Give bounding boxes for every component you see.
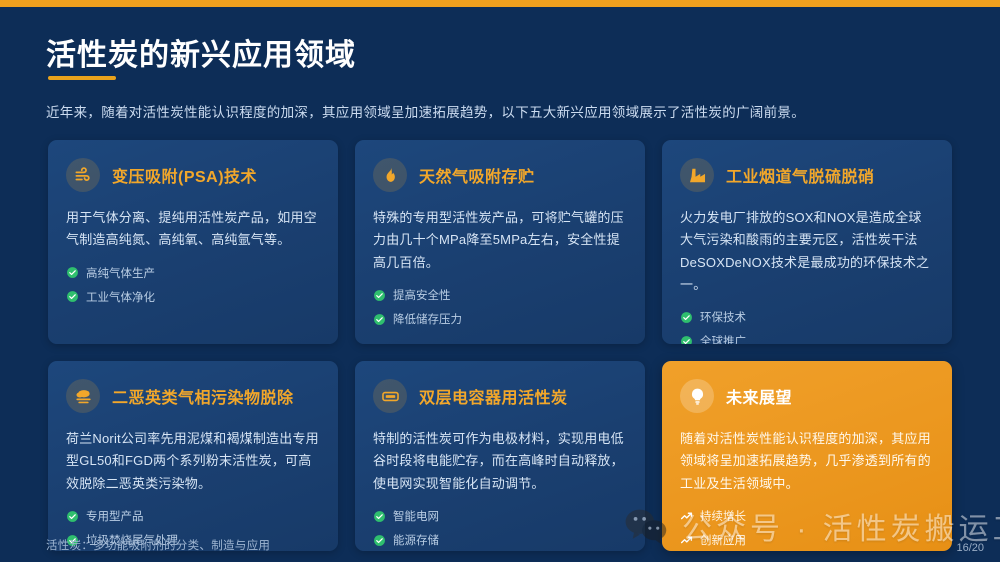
- page-subtitle: 近年来，随着对活性炭性能认识程度的加深，其应用领域呈加速拓展趋势，以下五大新兴应…: [46, 101, 805, 121]
- check-circle-icon: [373, 289, 386, 302]
- trend-up-icon: [680, 534, 693, 547]
- card-description: 特殊的专用型活性炭产品，可将贮气罐的压力由几十个MPa降至5MPa左右，安全性提…: [373, 207, 627, 274]
- card-tag-list: 高纯气体生产工业气体净化: [66, 265, 320, 305]
- card-tag-label: 持续增长: [700, 508, 746, 524]
- card-title: 天然气吸附存贮: [419, 163, 535, 187]
- card-title: 变压吸附(PSA)技术: [112, 163, 257, 187]
- check-circle-icon: [680, 335, 693, 344]
- smog-icon: [66, 379, 100, 413]
- lightbulb-icon: [680, 379, 714, 413]
- check-circle-icon: [373, 510, 386, 523]
- cards-grid: 变压吸附(PSA)技术用于气体分离、提纯用活性炭产品，如用空气制造高纯氮、高纯氧…: [48, 140, 952, 551]
- card-tag: 能源存储: [373, 532, 627, 548]
- card-tag: 全球推广: [680, 333, 934, 344]
- card-tag-list: 持续增长创新应用: [680, 508, 934, 548]
- application-card[interactable]: 未来展望随着对活性炭性能认识程度的加深，其应用领域将呈加速拓展趋势，几乎渗透到所…: [662, 361, 952, 551]
- check-circle-icon: [66, 266, 79, 279]
- top-accent-bar: [0, 0, 1000, 7]
- check-circle-icon: [66, 290, 79, 303]
- card-title: 未来展望: [726, 384, 792, 408]
- card-tag-label: 专用型产品: [86, 508, 144, 524]
- card-description: 用于气体分离、提纯用活性炭产品，如用空气制造高纯氮、高纯氧、高纯氩气等。: [66, 207, 320, 252]
- card-tag-label: 工业气体净化: [86, 289, 155, 305]
- page-number: 16/20: [956, 542, 984, 554]
- capacitor-icon: [373, 379, 407, 413]
- page-title: 活性炭的新兴应用领域: [46, 30, 356, 74]
- card-tag: 持续增长: [680, 508, 934, 524]
- card-tag-label: 环保技术: [700, 309, 746, 325]
- card-header: 天然气吸附存贮: [373, 158, 627, 192]
- check-circle-icon: [373, 534, 386, 547]
- card-header: 变压吸附(PSA)技术: [66, 158, 320, 192]
- card-title: 二恶英类气相污染物脱除: [112, 384, 294, 408]
- application-card[interactable]: 工业烟道气脱硫脱硝火力发电厂排放的SOX和NOX是造成全球大气污染和酸雨的主要元…: [662, 140, 952, 344]
- card-tag-list: 智能电网能源存储: [373, 508, 627, 548]
- card-tag-list: 环保技术全球推广: [680, 309, 934, 344]
- card-header: 工业烟道气脱硫脱硝: [680, 158, 934, 192]
- card-description: 随着对活性炭性能认识程度的加深，其应用领域将呈加速拓展趋势，几乎渗透到所有的工业…: [680, 428, 934, 495]
- footer-note: 活性炭：多功能吸附剂的分类、制造与应用: [46, 537, 270, 553]
- card-tag-label: 创新应用: [700, 532, 746, 548]
- card-title: 双层电容器用活性炭: [419, 384, 568, 408]
- card-tag: 环保技术: [680, 309, 934, 325]
- card-description: 火力发电厂排放的SOX和NOX是造成全球大气污染和酸雨的主要元区，活性炭干法De…: [680, 207, 934, 296]
- check-circle-icon: [66, 510, 79, 523]
- card-tag: 高纯气体生产: [66, 265, 320, 281]
- card-tag-list: 提高安全性降低储存压力: [373, 287, 627, 327]
- trend-up-icon: [680, 510, 693, 523]
- card-tag-label: 能源存储: [393, 532, 439, 548]
- slide-root: 活性炭的新兴应用领域 近年来，随着对活性炭性能认识程度的加深，其应用领域呈加速拓…: [0, 0, 1000, 562]
- application-card[interactable]: 天然气吸附存贮特殊的专用型活性炭产品，可将贮气罐的压力由几十个MPa降至5MPa…: [355, 140, 645, 344]
- title-underline: [48, 76, 116, 80]
- card-tag-label: 智能电网: [393, 508, 439, 524]
- check-circle-icon: [680, 311, 693, 324]
- card-header: 双层电容器用活性炭: [373, 379, 627, 413]
- card-tag: 降低储存压力: [373, 311, 627, 327]
- card-tag: 智能电网: [373, 508, 627, 524]
- application-card[interactable]: 变压吸附(PSA)技术用于气体分离、提纯用活性炭产品，如用空气制造高纯氮、高纯氧…: [48, 140, 338, 344]
- card-description: 荷兰Norit公司率先用泥煤和褐煤制造出专用型GL50和FGD两个系列粉末活性炭…: [66, 428, 320, 495]
- application-card[interactable]: 二恶英类气相污染物脱除荷兰Norit公司率先用泥煤和褐煤制造出专用型GL50和F…: [48, 361, 338, 551]
- card-tag: 提高安全性: [373, 287, 627, 303]
- flame-icon: [373, 158, 407, 192]
- card-header: 未来展望: [680, 379, 934, 413]
- card-tag: 专用型产品: [66, 508, 320, 524]
- card-tag-label: 高纯气体生产: [86, 265, 155, 281]
- card-header: 二恶英类气相污染物脱除: [66, 379, 320, 413]
- card-tag-label: 全球推广: [700, 333, 746, 344]
- card-tag-label: 提高安全性: [393, 287, 451, 303]
- card-title: 工业烟道气脱硫脱硝: [726, 163, 875, 187]
- wind-icon: [66, 158, 100, 192]
- factory-icon: [680, 158, 714, 192]
- card-tag: 工业气体净化: [66, 289, 320, 305]
- application-card[interactable]: 双层电容器用活性炭特制的活性炭可作为电极材料，实现用电低谷时段将电能贮存，而在高…: [355, 361, 645, 551]
- card-tag: 创新应用: [680, 532, 934, 548]
- card-tag-label: 降低储存压力: [393, 311, 462, 327]
- card-description: 特制的活性炭可作为电极材料，实现用电低谷时段将电能贮存，而在高峰时自动释放，使电…: [373, 428, 627, 495]
- check-circle-icon: [373, 313, 386, 326]
